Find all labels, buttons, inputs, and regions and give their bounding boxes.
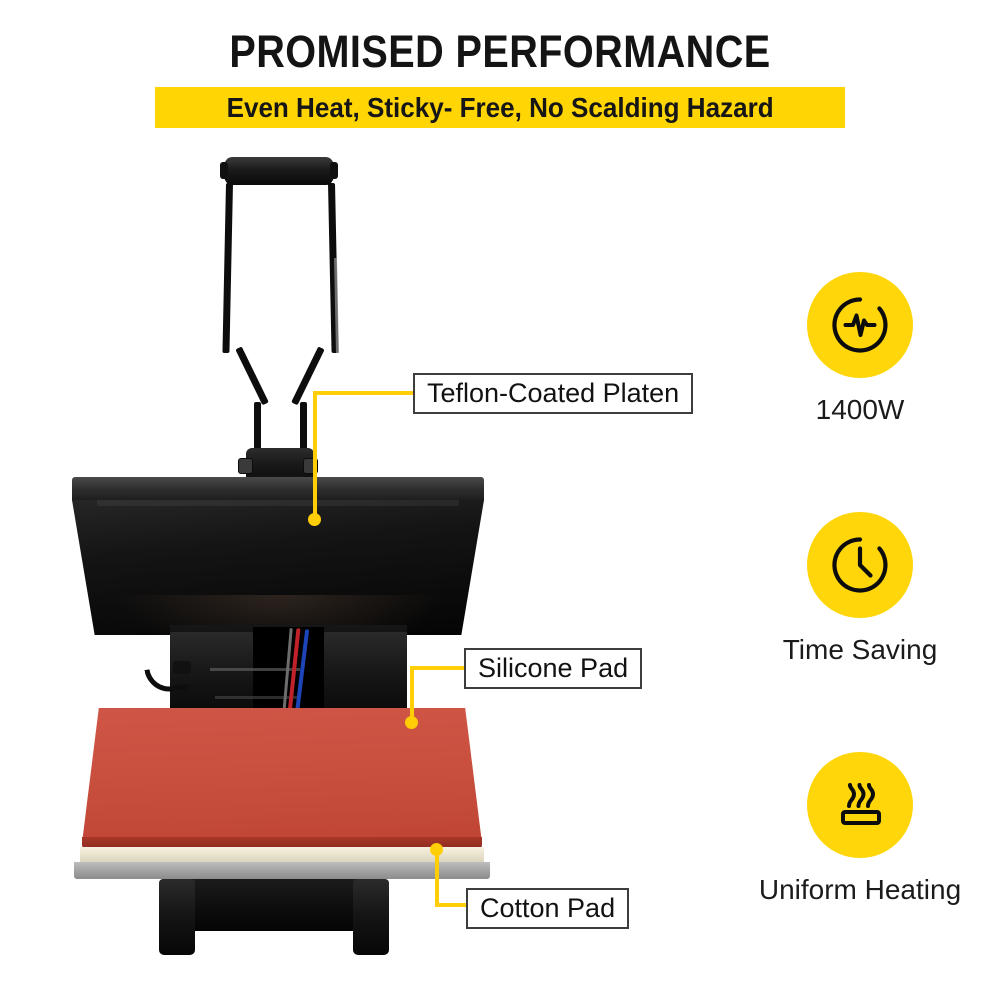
- handle-grip: [224, 157, 334, 185]
- callout-silicone-lead-horizontal: [410, 666, 466, 670]
- callout-cotton-anchor-dot: [430, 843, 443, 856]
- machine-body-right-panel: [324, 632, 407, 715]
- feature-power: 1400W: [750, 272, 970, 426]
- internal-rail-lower: [215, 696, 300, 699]
- lower-platen-plate: [74, 862, 490, 879]
- callout-silicone-anchor-dot: [405, 716, 418, 729]
- callout-cotton-pad: Cotton Pad: [466, 888, 629, 929]
- base-foot-left: [159, 879, 195, 955]
- callout-teflon-lead-horizontal: [313, 391, 415, 395]
- feature-power-badge: [807, 272, 913, 378]
- callout-silicone-label: Silicone Pad: [478, 653, 628, 684]
- feature-time-label: Time Saving: [750, 634, 970, 666]
- callout-teflon-lead-vertical: [313, 391, 317, 519]
- silicone-pad: [82, 708, 482, 843]
- heating-element-icon: [829, 774, 891, 836]
- feature-uniform-heating: Uniform Heating: [750, 752, 970, 906]
- handle-arm-right-lower: [291, 346, 324, 405]
- callout-silicone-lead-vertical: [410, 666, 414, 722]
- feature-time-saving: Time Saving: [750, 512, 970, 666]
- subtitle-banner-text: Even Heat, Sticky- Free, No Scalding Haz…: [226, 92, 773, 124]
- callout-silicone-pad: Silicone Pad: [464, 648, 642, 689]
- callout-cotton-lead-vertical: [435, 850, 439, 907]
- upper-platen-top-edge: [72, 477, 484, 501]
- callout-teflon-label: Teflon-Coated Platen: [427, 378, 679, 409]
- handle-arm-left: [222, 183, 233, 353]
- callout-teflon-coated-platen: Teflon-Coated Platen: [413, 373, 693, 414]
- handle-arm-left-lower: [235, 346, 268, 405]
- handle-arm-highlight: [334, 258, 339, 353]
- clock-icon: [829, 534, 891, 596]
- base-foot-right: [353, 879, 389, 955]
- feature-power-label: 1400W: [750, 394, 970, 426]
- feature-heating-label: Uniform Heating: [750, 874, 970, 906]
- callout-cotton-lead-horizontal: [435, 903, 468, 907]
- callout-cotton-label: Cotton Pad: [480, 893, 615, 924]
- callout-teflon-anchor-dot: [308, 513, 321, 526]
- page-title: PROMISED PERFORMANCE: [60, 26, 940, 78]
- subtitle-banner: Even Heat, Sticky- Free, No Scalding Haz…: [155, 87, 845, 128]
- heat-press-machine-illustration: [60, 140, 530, 960]
- hinge-bolt-left: [238, 458, 253, 474]
- power-cord-plug: [173, 661, 191, 674]
- feature-time-badge: [807, 512, 913, 618]
- cotton-pad: [80, 847, 484, 863]
- feature-heating-badge: [807, 752, 913, 858]
- power-pulse-icon: [829, 294, 891, 356]
